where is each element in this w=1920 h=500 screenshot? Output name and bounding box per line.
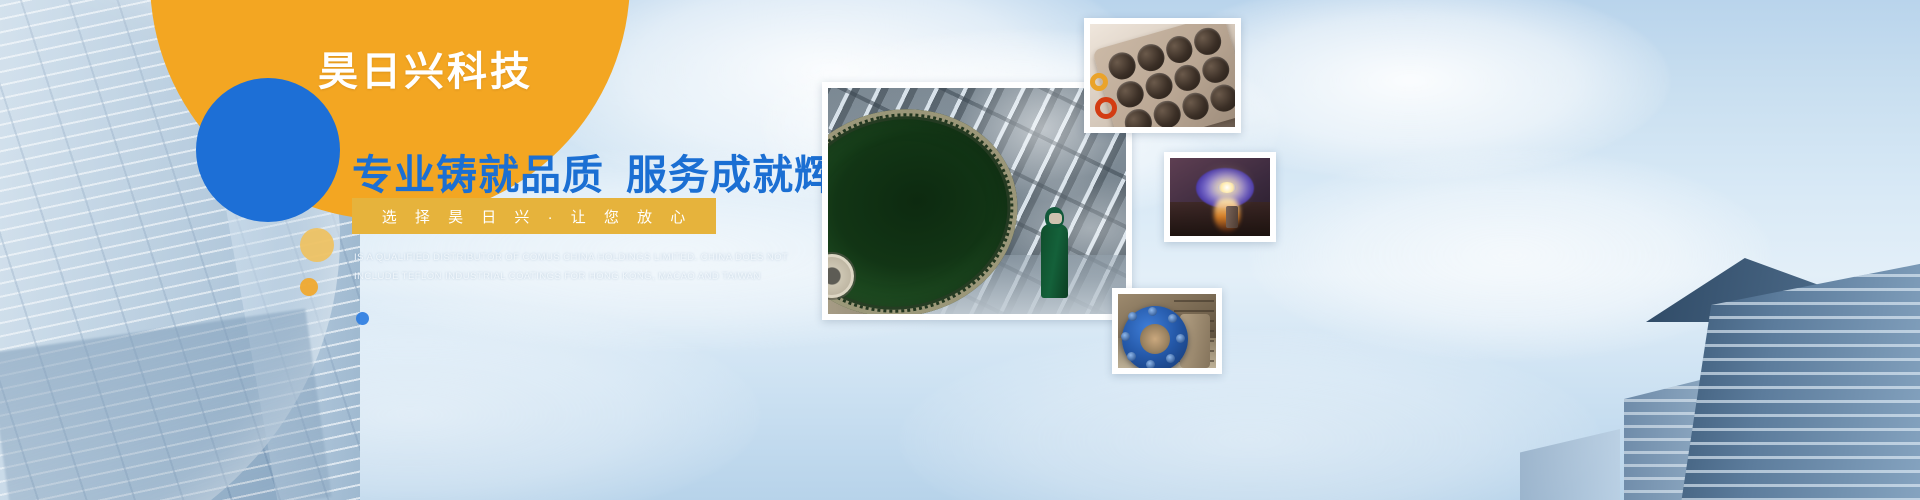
muffin-cup bbox=[1191, 25, 1224, 58]
decor-circle-blue bbox=[196, 78, 340, 222]
muffin-cup bbox=[1105, 49, 1138, 82]
flame-core bbox=[1218, 182, 1236, 193]
disclaimer-line-1: IS A QUALIFIED DISTRIBUTOR OF COMUS CHIN… bbox=[354, 248, 744, 267]
building-far bbox=[1520, 418, 1620, 500]
photo-nonstick-muffin-pan bbox=[1084, 18, 1241, 133]
decor-dot-blue bbox=[356, 312, 369, 325]
muffin-cup bbox=[1208, 82, 1235, 115]
tagline-bar: 选 择 昊 日 兴 · 让 您 放 心 bbox=[352, 198, 716, 234]
flange-bolt bbox=[1146, 360, 1155, 368]
brand-name: 昊日兴科技 bbox=[318, 50, 533, 94]
muffin-cup bbox=[1122, 106, 1155, 127]
decor-dot-orange bbox=[300, 278, 318, 296]
flange-bolt bbox=[1121, 332, 1130, 341]
hero-banner: 昊日兴科技 专业铸就品质服务成就辉煌 选 择 昊 日 兴 · 让 您 放 心 I… bbox=[0, 0, 1920, 500]
coating-ring-yellow bbox=[1090, 73, 1108, 91]
flange-bore bbox=[1140, 324, 1170, 354]
flange-bolt bbox=[1166, 354, 1175, 363]
coating-ring-red bbox=[1095, 97, 1117, 119]
decor-dot-yellow bbox=[300, 228, 334, 262]
flange-bolt bbox=[1168, 314, 1177, 323]
flange-bolt bbox=[1128, 312, 1137, 321]
muffin-cup bbox=[1114, 78, 1147, 111]
muffin-cup bbox=[1134, 41, 1167, 74]
building-right bbox=[1520, 230, 1920, 500]
headline-part-1: 专业铸就品质 bbox=[352, 152, 604, 198]
muffin-cup bbox=[1150, 98, 1183, 127]
worker-face bbox=[1049, 213, 1062, 224]
disclaimer-text: IS A QUALIFIED DISTRIBUTOR OF COMUS CHIN… bbox=[354, 248, 744, 286]
flange-bolt bbox=[1127, 352, 1136, 361]
disclaimer-line-2: INCLUDE TEFLON INDUSTRIAL COATINGS FOR H… bbox=[354, 267, 744, 286]
worker-body bbox=[1041, 224, 1068, 298]
muffin-cup bbox=[1199, 53, 1232, 86]
tagline-text: 选 择 昊 日 兴 · 让 您 放 心 bbox=[376, 206, 693, 227]
flange-bolt bbox=[1176, 334, 1185, 343]
muffin-cup bbox=[1179, 90, 1212, 123]
photo-blue-flange-component bbox=[1112, 288, 1222, 374]
muffin-cup bbox=[1142, 70, 1175, 103]
muffin-cup bbox=[1163, 33, 1196, 66]
spray-nozzle bbox=[1226, 206, 1238, 228]
muffin-cup bbox=[1171, 61, 1204, 94]
photo-flame-spray-coating bbox=[1164, 152, 1276, 242]
flange-bolt bbox=[1148, 307, 1157, 316]
headline: 专业铸就品质服务成就辉煌 bbox=[352, 152, 878, 199]
